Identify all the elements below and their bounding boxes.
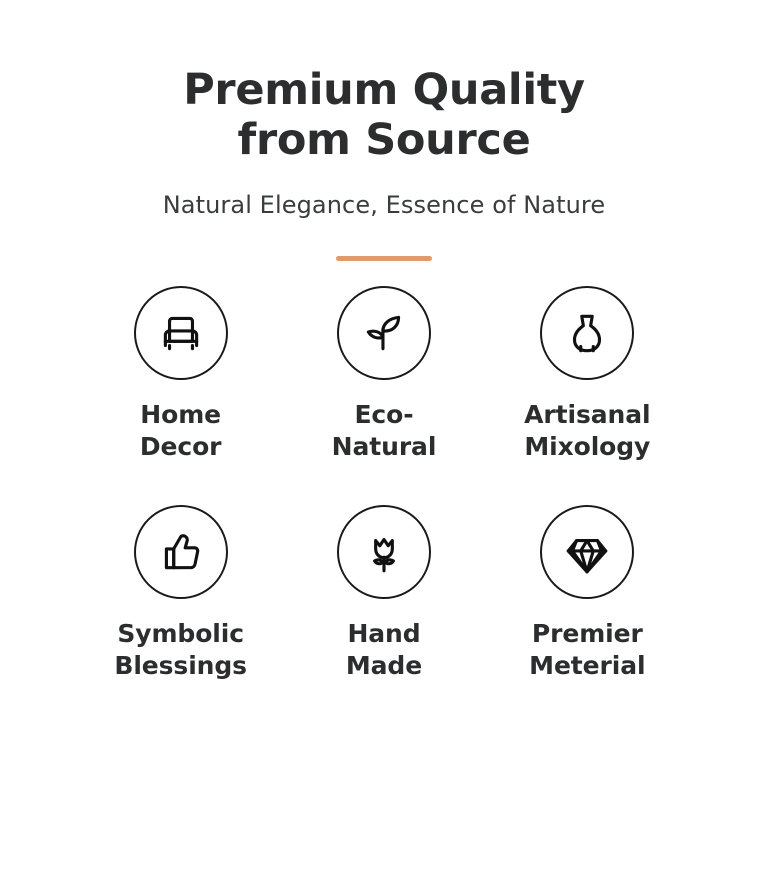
feature-item-symbolic-blessings: Symbolic Blessings bbox=[79, 505, 282, 682]
thumbs-up-icon bbox=[134, 505, 228, 599]
feature-item-home-decor: Home Decor bbox=[79, 286, 282, 463]
page-title: Premium Quality from Source bbox=[174, 66, 594, 166]
feature-label: Eco-Natural bbox=[309, 399, 459, 463]
seedling-icon bbox=[337, 286, 431, 380]
feature-label: Hand Made bbox=[309, 618, 459, 682]
tulip-icon bbox=[337, 505, 431, 599]
promo-banner: Premium Quality from Source Natural Eleg… bbox=[0, 0, 768, 873]
feature-label: Premier Meterial bbox=[512, 618, 662, 682]
armchair-icon bbox=[134, 286, 228, 380]
accent-divider bbox=[336, 256, 432, 261]
feature-item-hand-made: Hand Made bbox=[282, 505, 485, 682]
feature-label: Home Decor bbox=[106, 399, 256, 463]
feature-item-artisanal-mixology: Artisanal Mixology bbox=[486, 286, 689, 463]
feature-label: Artisanal Mixology bbox=[512, 399, 662, 463]
feature-item-eco-natural: Eco-Natural bbox=[282, 286, 485, 463]
diamond-icon bbox=[540, 505, 634, 599]
vase-icon bbox=[540, 286, 634, 380]
page-subtitle: Natural Elegance, Essence of Nature bbox=[163, 190, 606, 221]
feature-item-premier-meterial: Premier Meterial bbox=[486, 505, 689, 682]
feature-label: Symbolic Blessings bbox=[106, 618, 256, 682]
feature-grid: Home Decor Eco-Natural Artisanal Mixo bbox=[79, 286, 689, 682]
